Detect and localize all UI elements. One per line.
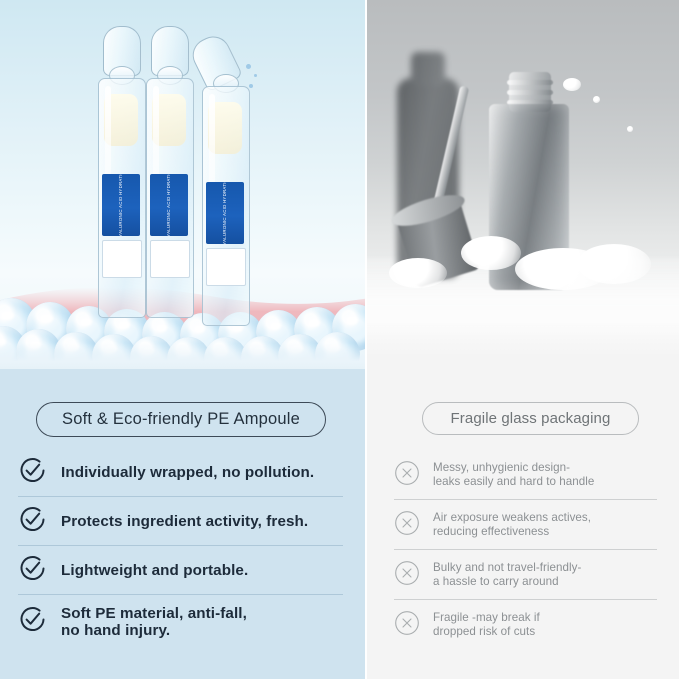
- left-hero-image: 4-LAYER HYALURONIC ACID HYDRATION SERUM …: [0, 0, 365, 369]
- ampoule-logo-patch: [102, 240, 142, 278]
- x-circle-icon: [394, 510, 420, 541]
- ampoule-label: 4-LAYER HYALURONIC ACID HYDRATION SERUM: [150, 174, 188, 236]
- x-circle-icon: [394, 460, 420, 491]
- cons-list-item-text: Air exposure weakens actives, reducing e…: [433, 511, 591, 539]
- x-circle-icon: [394, 610, 420, 641]
- left-heading-pill: Soft & Eco-friendly PE Ampoule: [36, 402, 326, 437]
- ampoule-label: 4-LAYER HYALURONIC ACID HYDRATION SERUM: [102, 174, 140, 236]
- water-splash: [389, 258, 447, 288]
- water-droplet: [563, 78, 581, 91]
- pros-list-item: Individually wrapped, no pollution.: [0, 448, 365, 497]
- cons-list-item-text: Fragile -may break if dropped risk of cu…: [433, 611, 540, 639]
- cons-list-item: Fragile -may break if dropped risk of cu…: [365, 600, 679, 650]
- panel-divider: [365, 0, 367, 679]
- check-circle-icon: [18, 456, 47, 490]
- pros-text-line1: Individually wrapped, no pollution.: [61, 464, 314, 481]
- right-heading-pill: Fragile glass packaging: [422, 402, 639, 435]
- ampoule-logo-patch: [150, 240, 190, 278]
- droplet-icon: [246, 64, 251, 69]
- water-droplet: [627, 126, 633, 132]
- cons-text-line2: reducing effectiveness: [433, 525, 591, 539]
- check-circle-icon: [18, 605, 47, 639]
- water-splash: [461, 236, 521, 270]
- ampoule-label-text: 4-LAYER HYALURONIC ACID HYDRATION SERUM: [222, 182, 228, 244]
- pros-text-line1: Soft PE material, anti-fall,: [61, 605, 247, 622]
- cons-list-item: Air exposure weakens actives, reducing e…: [365, 500, 679, 550]
- ampoule-label-text: 4-LAYER HYALURONIC ACID HYDRATION SERUM: [166, 174, 172, 236]
- left-panel-pe-ampoule: 4-LAYER HYALURONIC ACID HYDRATION SERUM …: [0, 0, 365, 679]
- cons-text-line2: dropped risk of cuts: [433, 625, 540, 639]
- cons-text-line1: Fragile -may break if: [433, 611, 540, 624]
- cons-text-line1: Air exposure weakens actives,: [433, 511, 591, 524]
- droplet-icon: [249, 84, 253, 88]
- right-panel-glass-packaging: Fragile glass packaging Messy, unhygieni…: [365, 0, 679, 679]
- pros-text-line1: Lightweight and portable.: [61, 562, 248, 579]
- cons-list: Messy, unhygienic design- leaks easily a…: [365, 450, 679, 650]
- pros-list-item: Lightweight and portable.: [0, 546, 365, 595]
- cons-text-line2: a hassle to carry around: [433, 575, 581, 589]
- cons-text-line1: Messy, unhygienic design-: [433, 461, 570, 474]
- cons-list-item-text: Bulky and not travel-friendly- a hassle …: [433, 561, 581, 589]
- droplet-icon: [254, 74, 257, 77]
- pros-list-item: Protects ingredient activity, fresh.: [0, 497, 365, 546]
- pros-text-line2: no hand injury.: [61, 622, 247, 639]
- x-circle-icon: [394, 560, 420, 591]
- pros-list-item-text: Individually wrapped, no pollution.: [61, 464, 314, 481]
- check-circle-icon: [18, 554, 47, 588]
- cons-list-item-text: Messy, unhygienic design- leaks easily a…: [433, 461, 594, 489]
- pros-text-line1: Protects ingredient activity, fresh.: [61, 513, 308, 530]
- ampoule-label-text: 4-LAYER HYALURONIC ACID HYDRATION SERUM: [118, 174, 124, 236]
- ampoule-label: 4-LAYER HYALURONIC ACID HYDRATION SERUM: [206, 182, 244, 244]
- cons-list-item: Bulky and not travel-friendly- a hassle …: [365, 550, 679, 600]
- pros-list-item: Soft PE material, anti-fall, no hand inj…: [0, 595, 365, 649]
- ampoule-logo-patch: [206, 248, 246, 286]
- comparison-infographic: 4-LAYER HYALURONIC ACID HYDRATION SERUM …: [0, 0, 679, 679]
- right-heading-text: Fragile glass packaging: [451, 410, 611, 427]
- pe-ampoule-group: 4-LAYER HYALURONIC ACID HYDRATION SERUM …: [98, 18, 268, 308]
- pros-list-item-text: Soft PE material, anti-fall, no hand inj…: [61, 605, 247, 639]
- cons-list-item: Messy, unhygienic design- leaks easily a…: [365, 450, 679, 500]
- water-splash: [577, 244, 651, 284]
- water-droplet: [593, 96, 600, 103]
- left-heading-text: Soft & Eco-friendly PE Ampoule: [62, 410, 300, 429]
- check-circle-icon: [18, 505, 47, 539]
- pros-list: Individually wrapped, no pollution. Prot…: [0, 448, 365, 649]
- cons-text-line1: Bulky and not travel-friendly-: [433, 561, 581, 574]
- right-hero-image: [365, 0, 679, 369]
- pros-list-item-text: Protects ingredient activity, fresh.: [61, 513, 308, 530]
- pros-list-item-text: Lightweight and portable.: [61, 562, 248, 579]
- cons-text-line2: leaks easily and hard to handle: [433, 475, 594, 489]
